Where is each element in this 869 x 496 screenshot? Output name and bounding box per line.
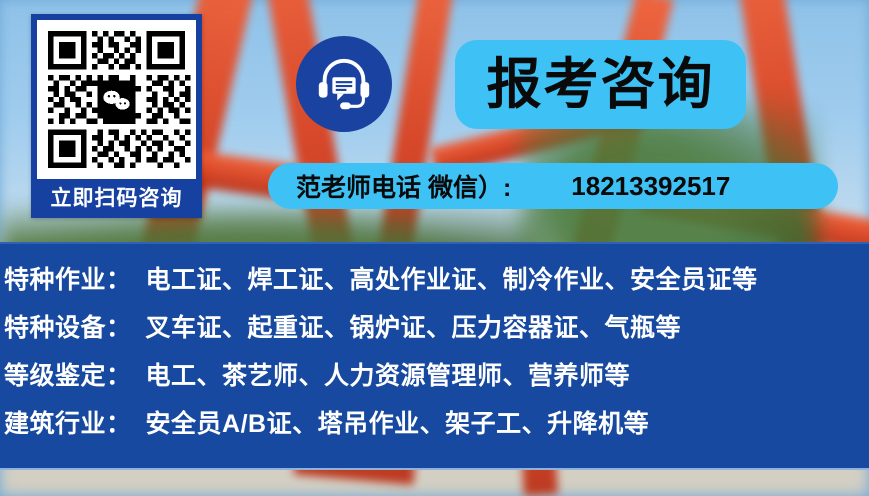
category-label: 等级鉴定： — [4, 356, 132, 392]
headset-support-icon — [296, 36, 392, 132]
category-label: 建筑行业： — [4, 404, 132, 440]
qr-code-matrix — [37, 20, 196, 179]
advertisement-banner: 立即扫码咨询 报考咨询 范老师电话 微信）: 18213392517 特种 — [0, 0, 869, 496]
course-categories-panel: 特种作业： 电工证、焊工证、高处作业证、制冷作业、安全员证等 特种设备： 叉车证… — [0, 242, 869, 470]
qr-caption-label: 立即扫码咨询 — [37, 179, 196, 218]
qr-code-image[interactable] — [37, 20, 196, 179]
category-label: 特种作业： — [4, 260, 132, 296]
category-row: 特种作业： 电工证、焊工证、高处作业证、制冷作业、安全员证等 — [4, 260, 869, 308]
qr-code-card[interactable]: 立即扫码咨询 — [31, 14, 202, 218]
contact-phone-bar[interactable]: 范老师电话 微信）: 18213392517 — [268, 163, 838, 209]
contact-label: 范老师电话 微信）: — [296, 168, 511, 204]
headset-icon-glyph — [313, 53, 375, 115]
category-row: 特种设备： 叉车证、起重证、锅炉证、压力容器证、气瓶等 — [4, 308, 869, 356]
contact-phone-number[interactable]: 18213392517 — [571, 171, 730, 202]
consultation-title-badge: 报考咨询 — [455, 40, 746, 129]
category-label: 特种设备： — [4, 308, 132, 344]
page-title: 报考咨询 — [486, 57, 714, 112]
category-row: 等级鉴定： 电工、茶艺师、人力资源管理师、营养师等 — [4, 356, 869, 404]
category-value: 安全员A/B证、塔吊作业、架子工、升降机等 — [146, 404, 650, 440]
category-value: 电工、茶艺师、人力资源管理师、营养师等 — [146, 356, 631, 392]
category-value: 电工证、焊工证、高处作业证、制冷作业、安全员证等 — [146, 260, 758, 296]
category-value: 叉车证、起重证、锅炉证、压力容器证、气瓶等 — [146, 308, 682, 344]
category-row: 建筑行业： 安全员A/B证、塔吊作业、架子工、升降机等 — [4, 404, 869, 452]
